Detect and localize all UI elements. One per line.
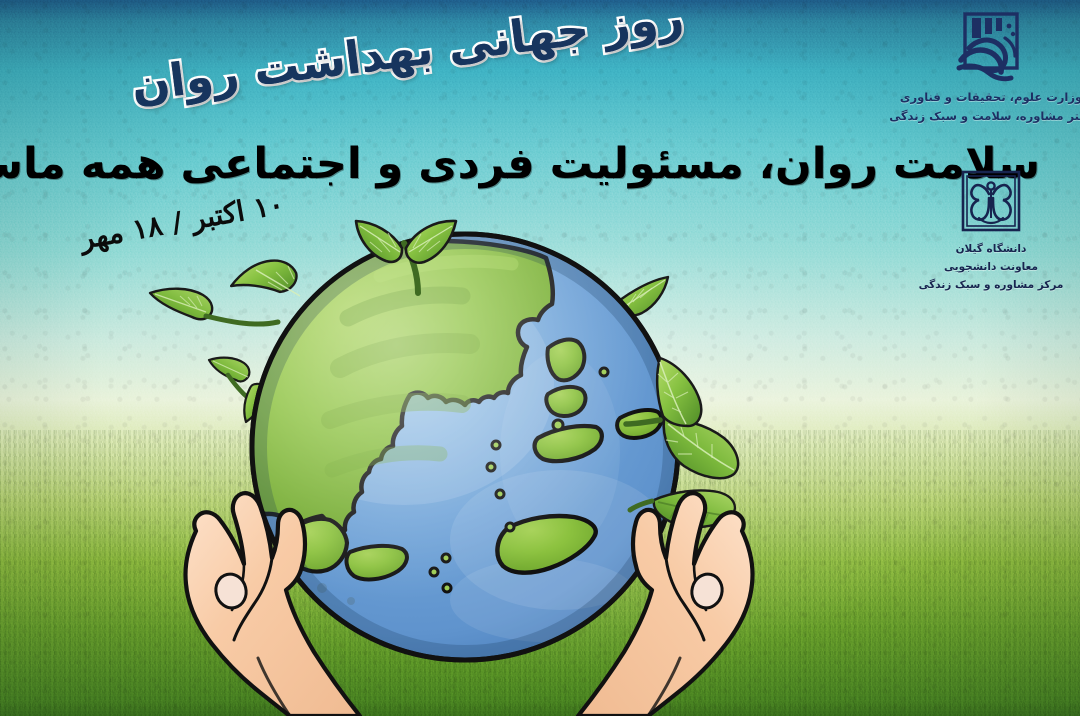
logo-caption-line-2: دفتر مشاوره، سلامت و سبک زندگی <box>889 108 1080 124</box>
university-of-guilan-emblem-icon <box>955 168 1027 240</box>
leaf-cluster-upper-left <box>229 258 300 297</box>
globe <box>244 234 678 660</box>
logo-student-affairs-organization: وزارت علوم، تحقیقات و فناوری دفتر مشاوره… <box>916 8 1066 125</box>
student-affairs-emblem-icon <box>953 8 1029 86</box>
poster-slogan: سلامت روان، مسئولیت فردی و اجتماعی همه م… <box>160 140 1040 188</box>
poster: روز جهانی بهداشت روان روز جهانی بهداشت ر… <box>0 0 1080 716</box>
logo-caption-line-1: وزارت علوم، تحقیقات و فناوری <box>900 89 1080 105</box>
logo-caption-line-2: معاونت دانشجویی <box>944 260 1038 276</box>
leaf-stem-left <box>206 316 278 324</box>
logo-caption-line-3: مرکز مشاوره و سبک زندگی <box>919 278 1064 294</box>
logo-university-of-guilan: دانشگاه گیلان معاونت دانشجویی مرکز مشاور… <box>916 168 1066 293</box>
logo-caption-line-1: دانشگاه گیلان <box>956 242 1027 258</box>
leaf-cluster-left <box>150 289 212 320</box>
